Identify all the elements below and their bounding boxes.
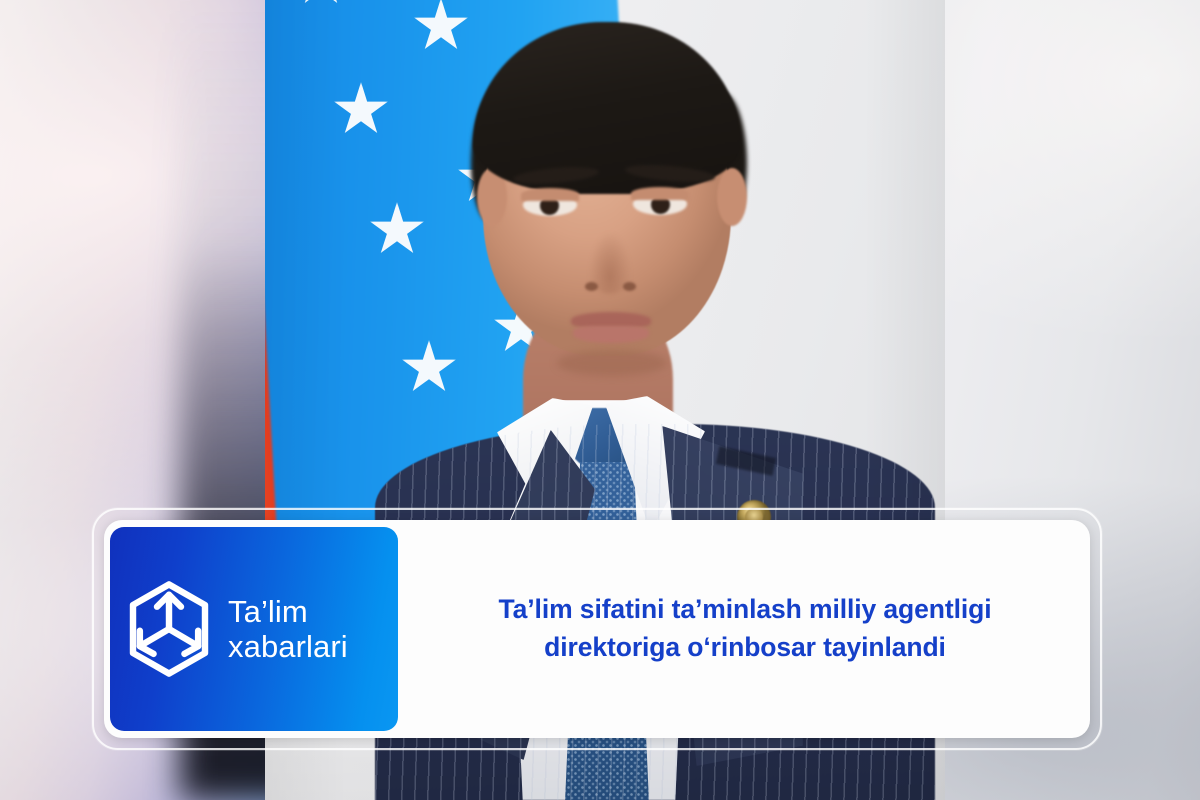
brand-logo-block[interactable]: Ta’lim xabarlari [110,527,398,731]
brand-logo-text: Ta’lim xabarlari [228,594,348,664]
cube-arrows-icon [126,581,212,677]
headline-text: Ta’lim sifatini ta’minlash milliy agentl… [499,591,992,666]
banner-stage: Ta’lim xabarlari Ta’lim sifatini ta’minl… [0,0,1200,800]
headline-area: Ta’lim sifatini ta’minlash milliy agentl… [400,520,1090,738]
